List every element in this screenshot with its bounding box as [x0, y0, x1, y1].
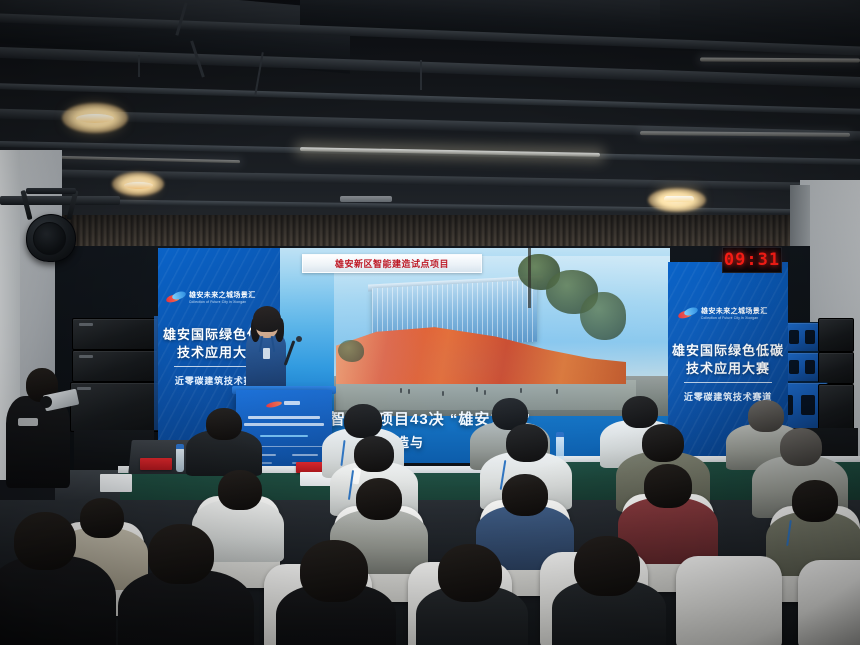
xiongan-logo-icon: [166, 292, 186, 303]
audience-head: [344, 404, 382, 438]
downlight-icon: [664, 196, 694, 202]
chair: [798, 560, 860, 645]
strip-light: [700, 57, 860, 62]
panel-logo-cn: 雄安未来之城场景汇: [189, 290, 256, 300]
subwoofer-cabinet: [70, 382, 160, 432]
presenter-badge: [263, 348, 270, 359]
bottle-cap: [556, 432, 564, 437]
panel-logo-en: Collection of Future City in Xiongan: [701, 316, 768, 320]
clock-time: 09:31: [724, 250, 780, 270]
screen-banner-text: 雄安新区智能建造试点项目: [335, 257, 449, 270]
audience-head: [748, 400, 784, 432]
name-plate: [140, 458, 172, 470]
strip-light: [60, 156, 240, 163]
speaker-cabinet: [72, 318, 158, 350]
audience-head: [502, 474, 548, 516]
audience-person-front: [0, 556, 116, 645]
audience-head: [644, 464, 692, 508]
ceiling-hanger-rod: [420, 60, 422, 90]
audience-head: [218, 470, 262, 510]
camera-lens: [40, 396, 52, 408]
audience-head: [354, 436, 394, 472]
speaker-cabinet: [818, 384, 854, 430]
ceiling-beam: [0, 198, 860, 215]
speaker-cabinet: [782, 322, 822, 352]
water-bottle: [176, 448, 184, 472]
panel-logo-cn: 雄安未来之城场景汇: [701, 306, 768, 316]
panel-divider: [684, 382, 772, 383]
ceiling-structure: [0, 0, 860, 232]
audience-head: [80, 498, 124, 538]
presenter-hair: [253, 306, 281, 332]
podium-text-line1: [248, 416, 320, 419]
audience-head: [206, 408, 242, 440]
audience-head: [642, 424, 684, 462]
camera-operator: [6, 396, 70, 488]
led-countdown-clock: 09:31: [722, 247, 782, 273]
speaker-cabinet: [72, 350, 158, 382]
panel-title-line1: 雄安国际绿色低碳: [668, 340, 788, 359]
audience-head: [356, 478, 402, 520]
xiongan-logo-icon: [678, 308, 698, 319]
podium-text-line3: [260, 435, 308, 437]
panel-title-line2: 技术应用大赛: [668, 358, 788, 377]
documents: [100, 474, 132, 492]
audience-head: [14, 512, 76, 570]
podium-detail-right: [292, 454, 318, 456]
render-plaza: [336, 380, 636, 410]
ceiling-beam: [0, 47, 860, 89]
podium-logo-icon: [266, 400, 302, 408]
render-tree: [580, 292, 626, 340]
jacket-logo: [18, 418, 38, 426]
ceiling-beam: [0, 83, 860, 115]
ceiling-hanger-rod: [138, 55, 140, 77]
audience-head: [506, 424, 548, 462]
audience-head: [300, 540, 368, 602]
podium-text-line2: [244, 423, 324, 426]
downlight-icon: [76, 114, 114, 123]
panel-logo-en: Collection of Future City in Xiongan: [189, 300, 256, 304]
audience-head: [780, 428, 822, 466]
downlight-icon: [124, 182, 153, 189]
audience-head: [438, 544, 502, 602]
audience-head: [148, 524, 214, 584]
bottle-cap: [176, 444, 184, 449]
chair: [676, 556, 782, 645]
render-tree-trunk: [528, 248, 531, 308]
audience-head: [622, 396, 658, 428]
screen-header-banner: 雄安新区智能建造试点项目: [302, 254, 482, 273]
stage-light-lens: [33, 222, 66, 255]
speaker-cabinet: [782, 352, 822, 382]
ceiling-vent: [340, 196, 392, 202]
microphone-head: [296, 336, 302, 342]
conference-hall-photo: 雄安新区智能建造试点项目 智汇城项目43决 “雄安之翼” 能建造与 雄安未来之城…: [0, 0, 860, 645]
audience-head: [574, 536, 640, 596]
speaker-cabinet: [818, 352, 854, 384]
audience-head: [792, 480, 838, 522]
render-tree: [338, 340, 364, 362]
ceiling-beam: [0, 108, 860, 141]
speaker-cabinet: [818, 318, 854, 352]
